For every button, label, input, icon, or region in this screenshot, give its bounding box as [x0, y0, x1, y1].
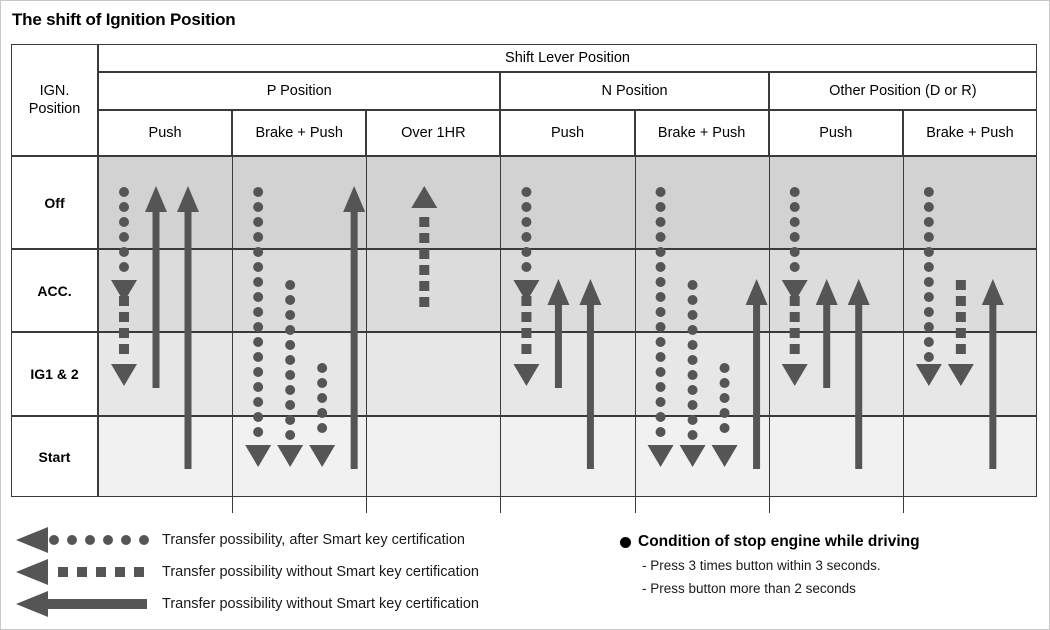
legend-row-1: Transfer possibility without Smart key c…: [14, 556, 574, 588]
column-separator-3: [500, 156, 501, 513]
corner-header-ign-position: IGN.Position: [11, 44, 98, 156]
legend-row-0: Transfer possibility, after Smart key ce…: [14, 524, 574, 556]
header-column-6: Brake + Push: [903, 110, 1037, 156]
notes-heading: Condition of stop engine while driving: [620, 533, 1040, 551]
header-column-1: Brake + Push: [232, 110, 366, 156]
legend-arrow-head: [16, 559, 48, 585]
legend-arrow-dot: [121, 535, 131, 545]
column-separator-2: [366, 156, 367, 513]
row-label-1: ACC.: [11, 249, 98, 332]
row-band-3: [98, 416, 1037, 497]
header-column-0: Push: [98, 110, 232, 156]
page-title: The shift of Ignition Position: [12, 10, 235, 30]
legend-arrow-dotted-icon: [14, 524, 149, 556]
row-label-3: Start: [11, 416, 98, 497]
legend-arrow-dot: [49, 535, 59, 545]
corner-header-line: IGN.: [40, 82, 70, 100]
legend-arrow-dot: [67, 535, 77, 545]
note-line-1: - Press button more than 2 seconds: [642, 581, 1040, 596]
legend-label-1: Transfer possibility without Smart key c…: [162, 564, 479, 580]
column-separator-1: [232, 156, 233, 513]
legend-row-2: Transfer possibility without Smart key c…: [14, 588, 574, 620]
notes-heading-text: Condition of stop engine while driving: [638, 533, 920, 551]
row-band-0: [98, 156, 1037, 249]
note-line-0: - Press 3 times button within 3 seconds.: [642, 558, 1040, 573]
row-band-2: [98, 332, 1037, 416]
legend-label-2: Transfer possibility without Smart key c…: [162, 596, 479, 612]
legend-arrow-dot: [85, 535, 95, 545]
row-label-2: IG1 & 2: [11, 332, 98, 416]
corner-header-line: Position: [29, 100, 81, 118]
legend-arrow-dash: [77, 567, 87, 577]
header-column-5: Push: [769, 110, 903, 156]
column-separator-5: [769, 156, 770, 513]
header-column-2: Over 1HR: [366, 110, 500, 156]
legend-arrow-head: [16, 591, 48, 617]
legend: Transfer possibility, after Smart key ce…: [14, 524, 574, 620]
header-column-4: Brake + Push: [635, 110, 769, 156]
legend-arrow-solid-icon: [14, 588, 149, 620]
legend-arrow-dash: [96, 567, 106, 577]
header-column-3: Push: [500, 110, 634, 156]
ignition-shift-table: IGN.PositionShift Lever PositionP Positi…: [11, 44, 1037, 513]
legend-arrow-shaft: [47, 599, 147, 609]
legend-arrow-dash: [115, 567, 125, 577]
header-shift-lever-position: Shift Lever Position: [98, 44, 1037, 72]
bullet-icon: [620, 537, 631, 548]
row-band-1: [98, 249, 1037, 332]
legend-arrow-dash: [134, 567, 144, 577]
legend-label-0: Transfer possibility, after Smart key ce…: [162, 532, 465, 548]
legend-arrow-dashed-icon: [14, 556, 149, 588]
header-group-0: P Position: [98, 72, 500, 110]
row-label-0: Off: [11, 156, 98, 249]
legend-arrow-head: [16, 527, 48, 553]
column-separator-4: [635, 156, 636, 513]
notes-block: Condition of stop engine while driving -…: [620, 533, 1040, 604]
header-group-1: N Position: [500, 72, 768, 110]
header-group-2: Other Position (D or R): [769, 72, 1037, 110]
legend-arrow-dash: [58, 567, 68, 577]
legend-arrow-dot: [103, 535, 113, 545]
column-separator-6: [903, 156, 904, 513]
legend-arrow-dot: [139, 535, 149, 545]
